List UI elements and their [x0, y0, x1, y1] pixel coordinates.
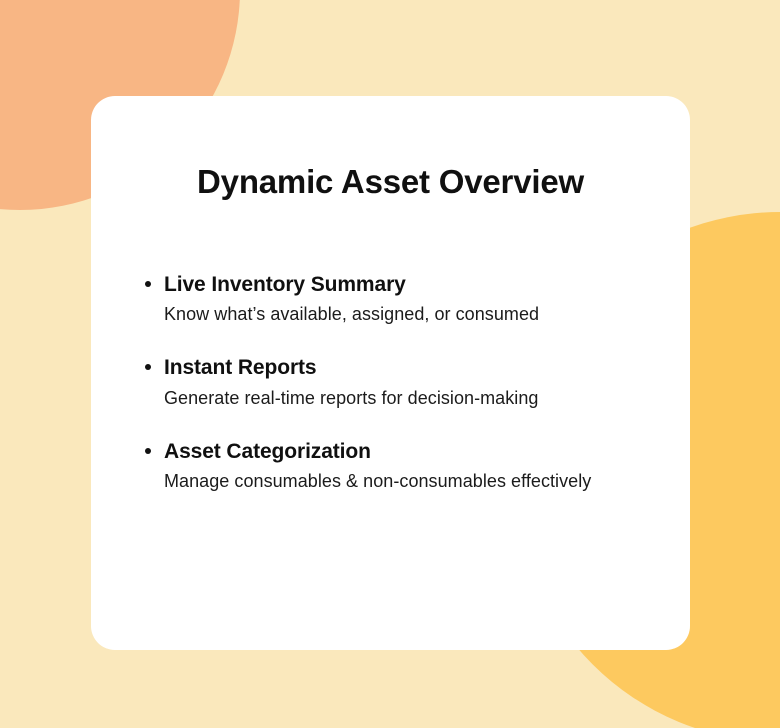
bullet-dot-icon [145, 281, 151, 287]
content-card: Dynamic Asset Overview Live Inventory Su… [91, 96, 690, 650]
list-item: Instant Reports Generate real-time repor… [145, 355, 662, 411]
feature-description: Generate real-time reports for decision-… [164, 385, 662, 412]
feature-title: Live Inventory Summary [164, 272, 662, 298]
feature-list: Live Inventory Summary Know what’s avail… [145, 272, 662, 495]
feature-title: Instant Reports [164, 355, 662, 381]
feature-title: Asset Categorization [164, 439, 662, 465]
bullet-dot-icon [145, 364, 151, 370]
feature-description: Manage consumables & non-consumables eff… [164, 468, 662, 495]
list-item: Live Inventory Summary Know what’s avail… [145, 272, 662, 328]
feature-description: Know what’s available, assigned, or cons… [164, 301, 662, 328]
slide-canvas: Dynamic Asset Overview Live Inventory Su… [0, 0, 780, 728]
bullet-dot-icon [145, 448, 151, 454]
list-item: Asset Categorization Manage consumables … [145, 439, 662, 495]
page-title: Dynamic Asset Overview [91, 162, 690, 202]
